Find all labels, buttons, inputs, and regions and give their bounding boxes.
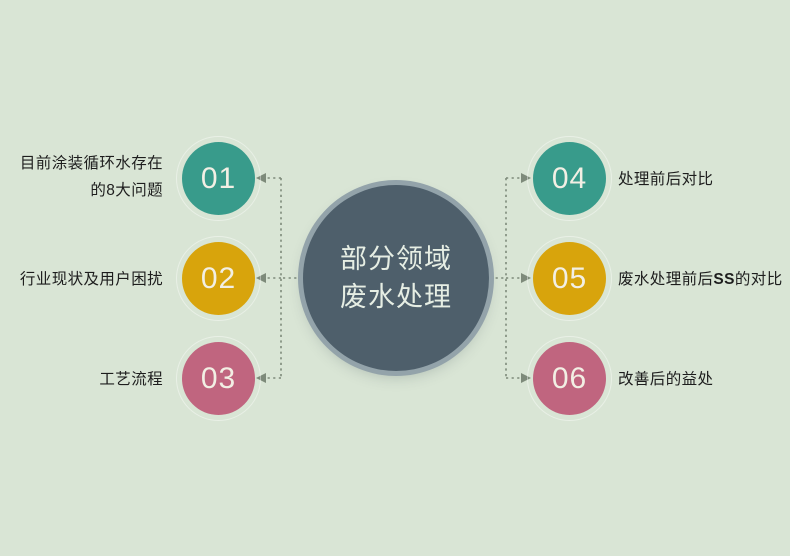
- node-01-number: 01: [201, 164, 236, 194]
- node-04-label: 处理前后对比: [618, 166, 790, 193]
- node-04[interactable]: 04: [533, 142, 606, 215]
- node-05-label-pre: 废水处理前后: [618, 271, 713, 288]
- node-06-label: 改善后的益处: [618, 366, 790, 393]
- node-03[interactable]: 03: [182, 342, 255, 415]
- node-02[interactable]: 02: [182, 242, 255, 315]
- node-05-label-bold: SS: [713, 271, 734, 288]
- diagram-canvas: 部分领域废水处理 01 02 03 04 05 06 目前涂装循环水存在 的8大…: [0, 0, 790, 556]
- node-03-label: 工艺流程: [0, 366, 163, 393]
- center-hub-title: 部分领域废水处理: [334, 240, 458, 317]
- node-01-label-line2: 的8大问题: [0, 177, 163, 204]
- node-02-number: 02: [201, 264, 236, 294]
- node-01-label: 目前涂装循环水存在 的8大问题: [0, 150, 163, 204]
- node-05-label-post: 的对比: [735, 271, 783, 288]
- node-05-number: 05: [552, 264, 587, 294]
- node-04-number: 04: [552, 164, 587, 194]
- center-hub: 部分领域废水处理: [303, 185, 489, 371]
- node-03-number: 03: [201, 364, 236, 394]
- node-01[interactable]: 01: [182, 142, 255, 215]
- node-02-label: 行业现状及用户困扰: [0, 266, 163, 293]
- node-06[interactable]: 06: [533, 342, 606, 415]
- node-01-label-line1: 目前涂装循环水存在: [0, 150, 163, 177]
- node-06-number: 06: [552, 364, 587, 394]
- node-05-label: 废水处理前后SS的对比: [618, 266, 790, 293]
- node-05[interactable]: 05: [533, 242, 606, 315]
